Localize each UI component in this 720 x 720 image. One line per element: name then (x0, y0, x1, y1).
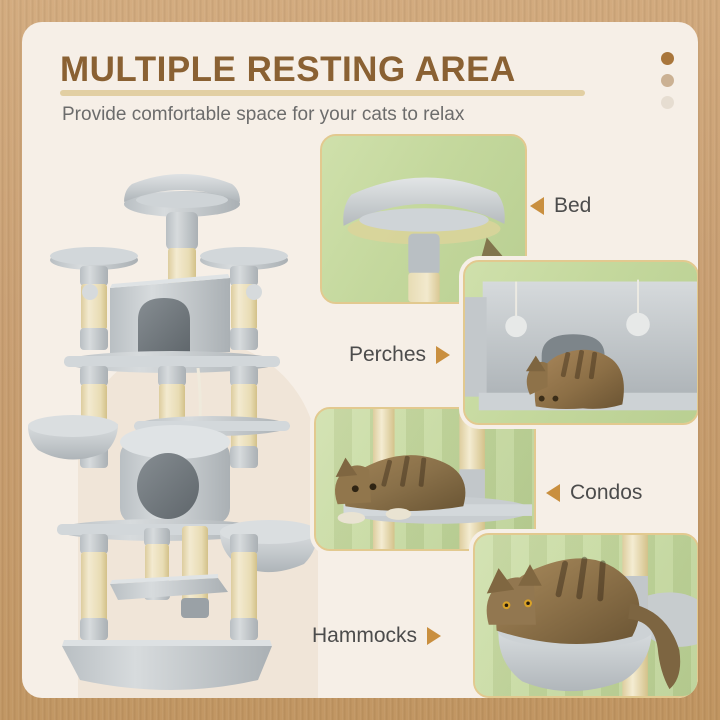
photo-panel-hammocks[interactable] (473, 533, 698, 698)
dot-light-icon (661, 96, 674, 109)
page-title: MULTIPLE RESTING AREA (60, 50, 516, 90)
dot-medium-icon (661, 74, 674, 87)
photo-panel-condos[interactable] (314, 407, 536, 551)
arrow-right-icon (427, 627, 441, 645)
photo-panel-perches[interactable] (463, 260, 698, 425)
callout-hammocks: Hammocks (312, 624, 441, 648)
callout-label-bed: Bed (554, 194, 591, 218)
callout-label-perches: Perches (349, 343, 426, 367)
arrow-left-icon (530, 197, 544, 215)
photo-condos (316, 409, 534, 549)
product-hero (22, 140, 322, 698)
content-card: MULTIPLE RESTING AREA Provide comfortabl… (22, 22, 698, 698)
arrow-right-icon (436, 346, 450, 364)
cat-tree-illustration (22, 140, 322, 698)
dot-dark-icon (661, 52, 674, 65)
arrow-left-icon (546, 484, 560, 502)
title-underline (60, 90, 585, 96)
page-subtitle: Provide comfortable space for your cats … (62, 104, 464, 126)
callout-bed: Bed (530, 194, 591, 218)
callout-perches: Perches (349, 343, 450, 367)
callout-label-hammocks: Hammocks (312, 624, 417, 648)
photo-hammocks (475, 535, 697, 696)
decorative-dot-stack (661, 52, 674, 109)
callout-condos: Condos (546, 481, 642, 505)
callout-label-condos: Condos (570, 481, 642, 505)
photo-perches (465, 262, 697, 423)
